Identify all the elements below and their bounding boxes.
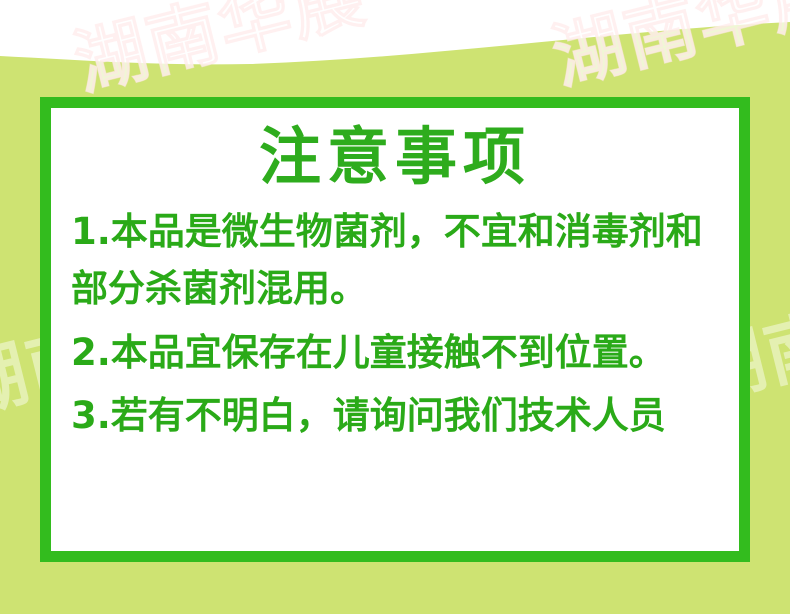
page-title: 注意事项 bbox=[65, 108, 725, 189]
list-item: 1.本品是微生物菌剂，不宜和消毒剂和部分杀菌剂混用。 bbox=[71, 203, 719, 318]
precautions-card: 注意事项 1.本品是微生物菌剂，不宜和消毒剂和部分杀菌剂混用。 2.本品宜保存在… bbox=[40, 97, 750, 562]
list-item: 3.若有不明白，请询问我们技术人员 bbox=[71, 387, 719, 444]
watermark-text: 湖南华展 bbox=[540, 0, 790, 104]
list-item: 2.本品宜保存在儿童接触不到位置。 bbox=[71, 324, 719, 381]
card-inner: 注意事项 1.本品是微生物菌剂，不宜和消毒剂和部分杀菌剂混用。 2.本品宜保存在… bbox=[51, 108, 739, 551]
precautions-poster: 湖南华展 湖南华展 湖南华展 湖南华展 湖南华展 注意事项 1.本品是微生物菌剂… bbox=[0, 0, 790, 614]
top-curve-decoration bbox=[0, 0, 790, 100]
precautions-list: 1.本品是微生物菌剂，不宜和消毒剂和部分杀菌剂混用。 2.本品宜保存在儿童接触不… bbox=[65, 189, 725, 444]
watermark-text: 湖南华展 bbox=[62, 0, 375, 110]
